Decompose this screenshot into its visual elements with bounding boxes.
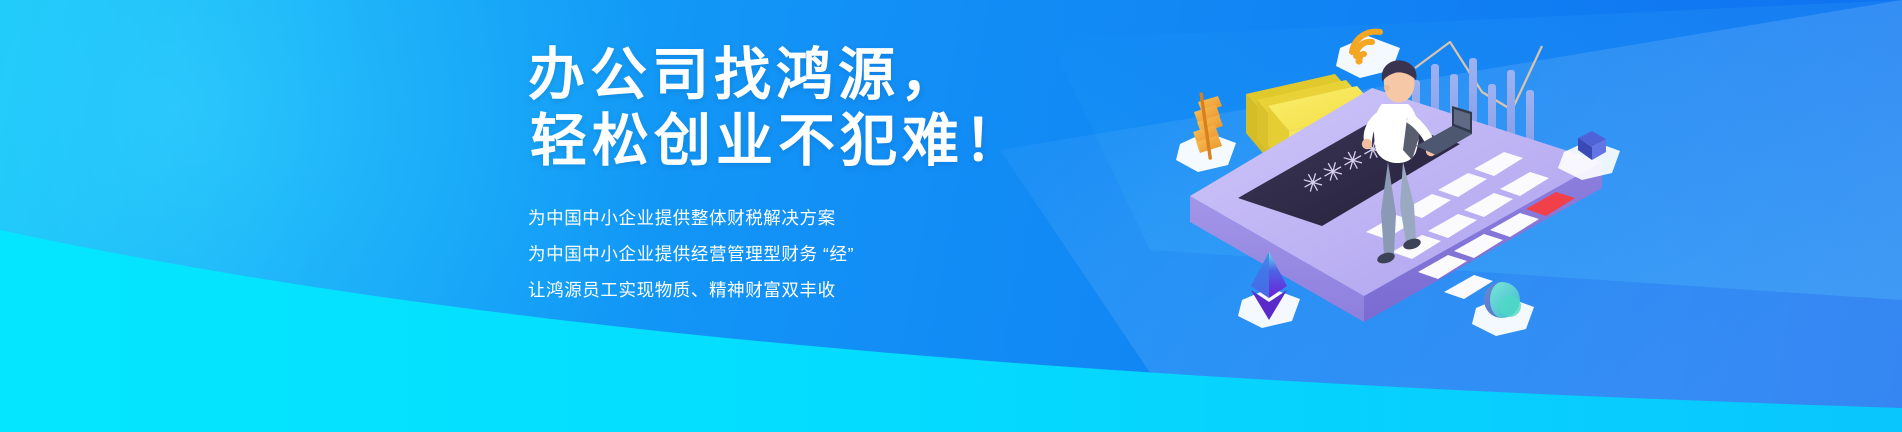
banner-headline: 办公司找鸿源， 轻松创业不犯难！ [528,42,998,174]
white-platform-icon [1558,131,1620,180]
headline-line-2: 轻松创业不犯难！ [528,108,998,174]
promo-banner: 办公司找鸿源， 轻松创业不犯难！ 为中国中小企业提供整体财税解决方案 为中国中小… [0,0,1902,432]
teal-sphere-icon [1472,282,1534,336]
headline-line-1: 办公司找鸿源， [528,42,998,108]
subtitle-line-2: 为中国中小企业提供经营管理型财务 “经” [528,242,998,266]
banner-copy: 办公司找鸿源， 轻松创业不犯难！ 为中国中小企业提供整体财税解决方案 为中国中小… [528,42,998,302]
subtitle-line-1: 为中国中小企业提供整体财税解决方案 [528,206,998,230]
subtitle-line-3: 让鸿源员工实现物质、精神财富双丰收 [528,278,998,302]
banner-subtitles: 为中国中小企业提供整体财税解决方案 为中国中小企业提供经营管理型财务 “经” 让… [528,206,998,302]
illustration-svg: ✳✳✳✳ [1160,0,1640,432]
coin-stack-icon [1176,92,1236,172]
isometric-finance-illustration: ✳✳✳✳ [1160,0,1640,432]
